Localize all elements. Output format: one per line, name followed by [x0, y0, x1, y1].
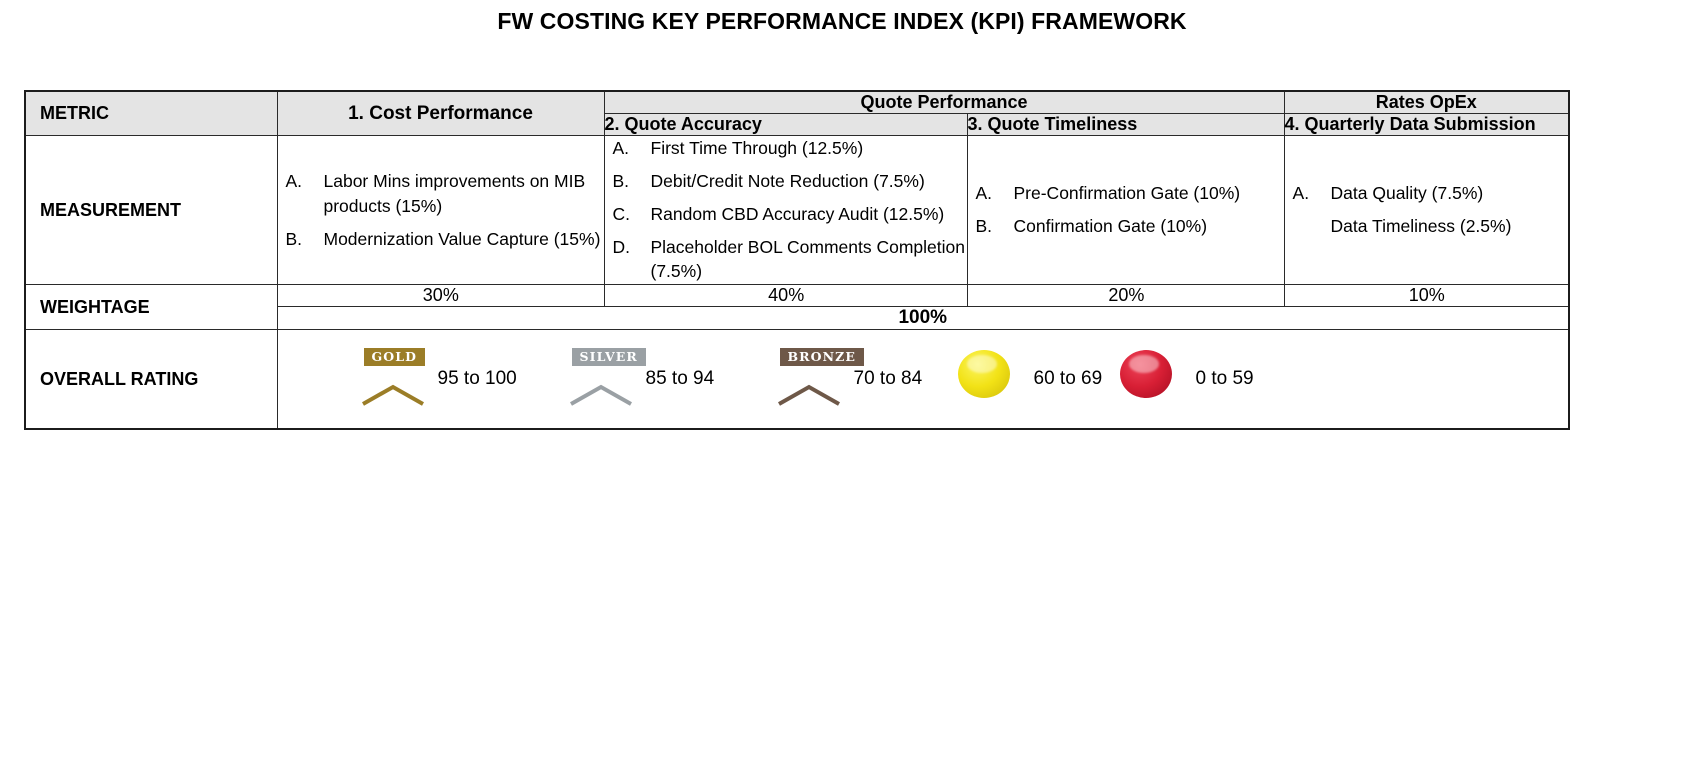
list-item-letter: D.: [605, 235, 651, 285]
list-item: A. Pre-Confirmation Gate (10%): [968, 181, 1284, 206]
rating-legend: GOLD 95 to 100 SILVER: [278, 330, 1569, 428]
metric-label: METRIC: [26, 93, 277, 134]
list-item: D. Placeholder BOL Comments Completion (…: [605, 235, 967, 285]
list-item: C. Random CBD Accuracy Audit (12.5%): [605, 202, 967, 227]
header-cost-performance: 1. Cost Performance: [277, 91, 604, 136]
list-item-text: Confirmation Gate (10%): [1014, 214, 1284, 239]
row-label-measurement: MEASUREMENT: [25, 136, 277, 285]
rating-silver: SILVER 85 to 94: [564, 348, 772, 410]
header-quote-accuracy: 2. Quote Accuracy: [604, 114, 967, 136]
rating-legend-container: GOLD 95 to 100 SILVER: [277, 330, 1569, 430]
list-item-text: Placeholder BOL Comments Completion (7.5…: [651, 235, 967, 285]
weightage-quote-timeliness: 20%: [968, 285, 1285, 307]
silver-ribbon-icon: [570, 382, 632, 406]
list-item-letter: A.: [278, 169, 324, 219]
list-item: B. Confirmation Gate (10%): [968, 214, 1284, 239]
list-item-text: Data Timeliness (2.5%): [1331, 214, 1569, 239]
list-item-letter: B.: [968, 214, 1014, 239]
header-quarterly-data-submission: 4. Quarterly Data Submission: [1284, 114, 1569, 136]
list-item-letter: B.: [605, 169, 651, 194]
measurement-list-cost-performance: A. Labor Mins improvements on MIB produc…: [278, 169, 604, 252]
measurement-list-quarterly-data: A. Data Quality (7.5%) Data Timeliness (…: [1285, 181, 1569, 239]
measurement-quote-accuracy: A. First Time Through (12.5%) B. Debit/C…: [604, 136, 967, 285]
weightage-total-row: 100%: [278, 307, 1569, 330]
yellow-circle-icon: [952, 348, 1028, 410]
measurement-quote-timeliness: A. Pre-Confirmation Gate (10%) B. Confir…: [967, 136, 1284, 285]
list-item-letter: A.: [605, 136, 651, 161]
bronze-ribbon-icon: [778, 382, 840, 406]
list-item-text: Labor Mins improvements on MIB products …: [324, 169, 604, 219]
red-status-dot: [1120, 350, 1172, 398]
list-item-text: First Time Through (12.5%): [651, 136, 967, 161]
measurement-list-quote-accuracy: A. First Time Through (12.5%) B. Debit/C…: [605, 136, 967, 284]
weightage-label: WEIGHTAGE: [26, 287, 277, 328]
measurement-label: MEASUREMENT: [26, 190, 277, 231]
red-circle-icon: [1114, 348, 1190, 410]
kpi-table-wrapper: METRIC 1. Cost Performance Quote Perform…: [24, 90, 1568, 430]
bronze-badge-label: BRONZE: [780, 348, 865, 366]
list-item: B. Debit/Credit Note Reduction (7.5%): [605, 169, 967, 194]
weightage-quote-accuracy: 40%: [605, 285, 968, 307]
list-item: A. Data Quality (7.5%): [1285, 181, 1569, 206]
rating-red: 0 to 59: [1114, 348, 1254, 410]
bronze-range: 70 to 84: [848, 368, 923, 390]
header-quote-performance: Quote Performance: [604, 91, 1284, 114]
weightage-row: WEIGHTAGE 30% 40% 20% 10%: [25, 285, 1569, 330]
row-label-weightage: WEIGHTAGE: [25, 285, 277, 330]
list-item-letter: C.: [605, 202, 651, 227]
gold-ribbon-icon: [362, 382, 424, 406]
rating-gold: GOLD 95 to 100: [356, 348, 564, 410]
list-item-letter: B.: [278, 227, 324, 252]
rating-bronze: BRONZE 70 to 84: [772, 348, 952, 410]
row-label-metric: METRIC: [25, 91, 277, 136]
yellow-range: 60 to 69: [1028, 368, 1103, 390]
overall-rating-label: OVERALL RATING: [26, 359, 277, 400]
kpi-framework-table: METRIC 1. Cost Performance Quote Perform…: [24, 90, 1570, 430]
silver-medal-icon: SILVER: [564, 348, 640, 410]
list-item-letter: A.: [968, 181, 1014, 206]
row-label-overall-rating: OVERALL RATING: [25, 330, 277, 430]
weightage-cost-performance: 30%: [278, 285, 605, 307]
header-cost-performance-label: 1. Cost Performance: [278, 93, 604, 135]
list-item: A. Labor Mins improvements on MIB produc…: [278, 169, 604, 219]
rating-yellow: 60 to 69: [952, 348, 1114, 410]
measurement-quarterly-data-submission: A. Data Quality (7.5%) Data Timeliness (…: [1284, 136, 1569, 285]
gold-medal-icon: GOLD: [356, 348, 432, 410]
list-item-text: Data Quality (7.5%): [1331, 181, 1569, 206]
list-item-text: Debit/Credit Note Reduction (7.5%): [651, 169, 967, 194]
gold-range: 95 to 100: [432, 368, 517, 390]
overall-rating-row: OVERALL RATING GOLD 95 to 100: [25, 330, 1569, 430]
measurement-cost-performance: A. Labor Mins improvements on MIB produc…: [277, 136, 604, 285]
gold-badge-label: GOLD: [364, 348, 426, 366]
list-item: Data Timeliness (2.5%): [1285, 214, 1569, 239]
bronze-medal-icon: BRONZE: [772, 348, 848, 410]
table-header-group-row: METRIC 1. Cost Performance Quote Perform…: [25, 91, 1569, 114]
list-item-letter: A.: [1285, 181, 1331, 206]
list-item-text: Modernization Value Capture (15%): [324, 227, 604, 252]
header-rates-opex: Rates OpEx: [1284, 91, 1569, 114]
list-item-text: Pre-Confirmation Gate (10%): [1014, 181, 1284, 206]
weightage-total: 100%: [278, 307, 1569, 330]
weightage-quarterly-data: 10%: [1285, 285, 1568, 307]
weightage-inner-table: 30% 40% 20% 10% 100%: [278, 285, 1569, 329]
list-item: B. Modernization Value Capture (15%): [278, 227, 604, 252]
list-item: A. First Time Through (12.5%): [605, 136, 967, 161]
weightage-values-row: 30% 40% 20% 10%: [278, 285, 1569, 307]
list-item-text: Random CBD Accuracy Audit (12.5%): [651, 202, 967, 227]
red-range: 0 to 59: [1190, 368, 1254, 390]
measurement-row: MEASUREMENT A. Labor Mins improvements o…: [25, 136, 1569, 285]
header-quote-timeliness: 3. Quote Timeliness: [967, 114, 1284, 136]
silver-range: 85 to 94: [640, 368, 715, 390]
silver-badge-label: SILVER: [572, 348, 646, 366]
weightage-values-container: 30% 40% 20% 10% 100%: [277, 285, 1569, 330]
measurement-list-quote-timeliness: A. Pre-Confirmation Gate (10%) B. Confir…: [968, 181, 1284, 239]
page-title: FW COSTING KEY PERFORMANCE INDEX (KPI) F…: [0, 0, 1684, 35]
yellow-status-dot: [958, 350, 1010, 398]
